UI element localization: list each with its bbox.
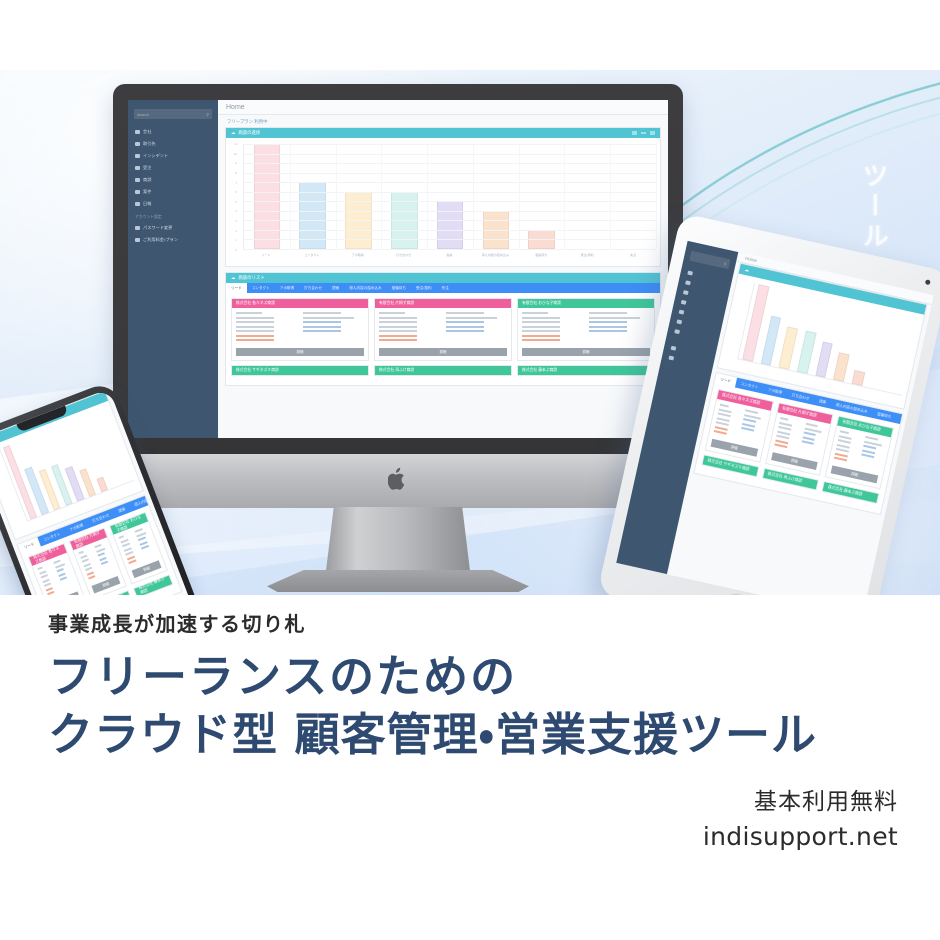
chart-y-tick-label: 1 <box>235 238 237 242</box>
search-icon: ⚲ <box>723 261 727 267</box>
deal-card-detail-button[interactable]: 詳細 <box>236 348 364 356</box>
handshake-icon <box>679 310 685 315</box>
deal-card-field-group <box>522 312 584 344</box>
deal-card-column: 有限会社 おひな子商談詳細株式会社 藤本ぷ商談 <box>821 416 894 508</box>
deal-card-column: 有限会社 おひな子商談詳細株式会社 藤本ぷ商談 <box>517 298 655 380</box>
chart-gridline-vertical <box>473 144 474 249</box>
deal-card-title: 有限会社 おひな子商談 <box>518 299 654 308</box>
chart-x-tick-label: アポ取得 <box>335 250 381 257</box>
deal-card-column: 有限会社 片桐ず商談詳細株式会社 再ふけ商談 <box>374 298 512 380</box>
chart-bar-cell <box>290 144 336 249</box>
deal-card-field <box>236 326 274 328</box>
deal-card-field <box>522 339 560 341</box>
chart-gridline <box>244 173 656 174</box>
deal-card-column: 有限会社 片桐ず商談詳細株式会社 再ふけ商談 <box>761 402 834 494</box>
chart-x-tick-label: 提案 <box>427 250 473 257</box>
imac-bezel: search ⚲ 会社 取引先 <box>113 84 683 454</box>
chart-y-tick-label: 7 <box>235 181 237 185</box>
crm-app-window-tablet: ⚲ Home <box>616 241 933 595</box>
list-panel: ☁ 商談のリスト リードコンタクトアポ取得打ち合わせ提案導入内容の詰め込み稟議待… <box>225 272 661 386</box>
chart-gridline-vertical <box>610 144 611 249</box>
deal-card-field-group <box>236 312 298 344</box>
page-headline: フリーランスのための クラウド型 顧客管理・営業支援ツール <box>48 648 908 763</box>
sidebar-item-incident[interactable]: インシデント <box>128 150 218 162</box>
deal-card-detail-label: 詳細 <box>142 565 150 572</box>
chart-bar-cell <box>473 144 519 249</box>
pipeline-tab[interactable]: コンタクト <box>247 283 275 293</box>
chart-x-axis: リードコンタクトアポ取得打ち合わせ提案導入内容の詰め込み稟議待ち受注・契約失注 <box>243 250 656 257</box>
poster-canvas: ツール search ⚲ 会社 <box>0 0 940 940</box>
deal-card-field <box>379 326 417 328</box>
deal-card-field <box>589 326 627 328</box>
deal-card[interactable]: 株式会社 サギネズミ商談 <box>231 365 369 376</box>
deal-card-grid-tablet: 株式会社 各々ネズ商談詳細株式会社 サギネズミ商談有限会社 片桐ず商談詳細株式会… <box>695 383 900 513</box>
deal-card-field <box>589 321 627 323</box>
deal-card-field <box>236 312 262 314</box>
deal-card-field-group <box>773 417 800 452</box>
deal-card-detail-label: 詳細 <box>791 457 799 463</box>
building-icon <box>135 130 140 134</box>
chart-gridline-vertical <box>564 144 565 249</box>
deal-card-field <box>141 545 149 549</box>
chart-y-tick-label: 8 <box>235 171 237 175</box>
sidebar-item-project[interactable]: 案件 <box>128 186 218 198</box>
deal-card-body <box>232 308 368 348</box>
deal-card-field <box>446 326 484 328</box>
deal-card-field <box>801 440 814 445</box>
deal-card-body <box>518 308 654 348</box>
deal-card-field <box>741 427 754 432</box>
pipeline-tab[interactable]: 打ち合わせ <box>299 283 327 293</box>
chart-bar-cell <box>381 144 427 249</box>
deal-card-detail-label: 詳細 <box>851 471 859 477</box>
cart-icon <box>135 166 140 170</box>
chart-bar-cell <box>336 144 382 249</box>
chart-bar-cell <box>427 144 473 249</box>
search-input[interactable]: search ⚲ <box>134 109 212 119</box>
sidebar-item-deal[interactable]: 商談 <box>128 174 218 186</box>
card-icon <box>668 356 674 361</box>
kicker-text: 事業成長が加速する切り札 <box>48 608 306 637</box>
chart-panel: ☁ 商談の進捗 01234567891011 <box>225 127 661 267</box>
chart-bar <box>437 201 464 249</box>
folder-icon <box>676 319 682 324</box>
chart-y-tick-label: 11 <box>234 142 237 146</box>
deal-card-field <box>88 575 96 579</box>
chart-y-tick-label: 5 <box>235 200 237 204</box>
deal-card-field-group <box>379 312 441 344</box>
deal-card[interactable]: 株式会社 各々ネズ商談詳細 <box>705 389 774 462</box>
chart-y-tick-label: 10 <box>234 152 237 156</box>
chart-bar <box>833 352 850 382</box>
list-panel-header: ☁ 商談のリスト <box>226 273 660 283</box>
deal-card-field <box>236 317 274 319</box>
deal-card-field <box>780 417 789 421</box>
deal-card-title: 株式会社 サギネズミ商談 <box>232 366 368 375</box>
imac-stand-foot <box>267 570 529 592</box>
deal-card-column: 株式会社 各々ネズ商談詳細株式会社 サギネズミ商談 <box>701 389 774 481</box>
deal-card-field <box>379 330 417 332</box>
deal-card[interactable]: 株式会社 各々ネズ商談詳細 <box>231 298 369 361</box>
imac-screen: search ⚲ 会社 取引先 <box>128 100 668 438</box>
background-ghost-text: ツール <box>855 162 892 252</box>
chart-gridline <box>244 220 656 221</box>
lock-icon <box>135 226 140 230</box>
deal-card-detail-button[interactable]: 詳細 <box>522 348 650 356</box>
deal-card-field <box>446 317 498 319</box>
deal-card-field <box>446 312 484 314</box>
deal-card-title: 株式会社 各々ネズ商談 <box>232 299 368 308</box>
chart-y-tick-label: 9 <box>235 161 237 165</box>
chart-bar <box>851 370 865 386</box>
sidebar-item-label: インシデント <box>143 153 168 159</box>
chart-bar-cell <box>610 144 656 249</box>
pipeline-tab[interactable]: アポ取得 <box>275 283 299 293</box>
chart-gridline-vertical <box>381 144 382 249</box>
chart-x-tick-label: コンタクト <box>289 250 335 257</box>
lock-icon <box>671 346 677 351</box>
deal-card[interactable]: 有限会社 片桐ず商談詳細 <box>374 298 512 361</box>
chart-x-tick-label: 受注・契約 <box>564 250 610 257</box>
chart-bar-cell <box>519 144 565 249</box>
chart-x-tick-label: 稟議待ち <box>518 250 564 257</box>
pipeline-tabs[interactable]: リードコンタクトアポ取得打ち合わせ提案導入内容の詰め込み稟議待ち受注・契約失注 <box>226 283 660 293</box>
pipeline-tab[interactable]: 失注 <box>437 283 454 293</box>
sidebar-item-label: 取引先 <box>143 141 156 147</box>
chart-gridline <box>244 239 656 240</box>
crm-app-window: search ⚲ 会社 取引先 <box>128 100 668 438</box>
chart-panel-title: 商談の進捗 <box>238 130 629 136</box>
list-panel-title: 商談のリスト <box>238 275 655 281</box>
deal-card-field <box>119 535 124 539</box>
chart-gridline-vertical <box>519 144 520 249</box>
chart-bar-cell <box>564 144 610 249</box>
chart-y-tick-label: 4 <box>235 209 237 213</box>
deal-card-field <box>47 591 55 595</box>
chart-gridline <box>244 211 656 212</box>
deal-card-detail-label: 詳細 <box>297 349 304 354</box>
deal-card-field <box>522 330 560 332</box>
deal-card-field <box>60 576 68 580</box>
chart-x-tick-label: 導入内容の詰め込み <box>472 250 518 257</box>
footer-info: 基本利用無料 indisupport.net <box>703 782 898 851</box>
headline-line-2: クラウド型 顧客管理・営業支援ツール <box>48 706 908 764</box>
search-icon: ⚲ <box>206 112 209 117</box>
hero-image: ツール search ⚲ 会社 <box>0 70 940 595</box>
chart-gridline-vertical <box>336 144 337 249</box>
deal-card-field <box>589 330 627 332</box>
deal-card-field <box>236 330 274 332</box>
deal-card-field <box>303 330 341 332</box>
deal-card-field <box>522 335 560 337</box>
sidebar-item-label: 会社 <box>143 129 151 135</box>
chart-icon <box>135 202 140 206</box>
search-input-placeholder: search <box>137 112 149 117</box>
deal-card-field <box>129 559 137 563</box>
deal-card-field-group <box>589 312 651 344</box>
deal-card-detail-button[interactable]: 詳細 <box>379 348 507 356</box>
window-controls[interactable] <box>632 131 655 135</box>
chart-bar-cell <box>244 144 290 249</box>
minimize-icon[interactable] <box>641 132 646 134</box>
sidebar-item-label: 日報 <box>143 201 151 207</box>
apple-logo <box>388 467 408 491</box>
chart-y-tick-label: 2 <box>235 229 237 233</box>
app-main-content: Home フリープラン 利用中 ☁ 商談の進捗 <box>218 100 668 438</box>
deal-card-field <box>834 457 847 462</box>
chart-bars <box>244 144 656 249</box>
free-plan-label: 基本利用無料 <box>703 782 898 816</box>
chart-gridline <box>244 154 656 155</box>
app-sidebar: search ⚲ 会社 取引先 <box>128 100 218 438</box>
deal-card-field <box>522 317 560 319</box>
site-url[interactable]: indisupport.net <box>703 822 898 851</box>
sidebar-item-company[interactable]: 会社 <box>128 126 218 138</box>
deal-card-field <box>379 321 417 323</box>
sidebar-item-plan[interactable]: ご利用料金・プラン <box>128 234 218 246</box>
alert-icon <box>135 154 140 158</box>
card-icon <box>135 238 140 242</box>
chart-x-tick-label: リード <box>243 250 289 257</box>
deal-card-field-group <box>799 423 826 458</box>
sidebar-item-label: パスワード変更 <box>143 225 172 231</box>
chart-gridline <box>244 192 656 193</box>
chart-x-tick-label: 失注 <box>610 250 656 257</box>
sidebar-section-label: アカウント設定 <box>128 210 218 222</box>
deal-card-field <box>78 551 83 555</box>
chart-gridline <box>244 144 656 145</box>
deal-card-grid: 株式会社 各々ネズ商談詳細株式会社 サギネズミ商談有限会社 片桐ず商談詳細株式会… <box>226 293 660 385</box>
chart-gridline <box>244 249 656 250</box>
deal-card-field <box>861 453 874 458</box>
sidebar-item-label: ご利用料金・プラン <box>143 237 178 243</box>
handshake-icon <box>135 178 140 182</box>
bar-chart: 01234567891011 リードコンタクトアポ取得打ち合わせ提案導入内容の詰… <box>226 138 660 266</box>
sidebar-item-label: 受注 <box>143 165 151 171</box>
chart-gridline-vertical <box>656 144 657 249</box>
deal-card[interactable]: 株式会社 藤本ぷ商談 <box>517 365 655 376</box>
chart-panel-header: ☁ 商談の進捗 <box>226 128 660 138</box>
home-button-icon[interactable] <box>723 592 749 595</box>
chart-gridline <box>244 163 656 164</box>
deal-card-field <box>446 321 484 323</box>
chart-y-axis: 01234567891011 <box>226 144 238 250</box>
close-icon[interactable] <box>650 131 655 135</box>
cloud-icon: ☁ <box>744 267 750 274</box>
deal-card-field <box>100 561 108 565</box>
deal-card-field <box>303 321 341 323</box>
deal-card[interactable]: 有限会社 おひな子商談詳細 <box>825 416 894 489</box>
pipeline-tab[interactable]: リード <box>226 283 247 293</box>
deal-card-column: 株式会社 各々ネズ商談詳細株式会社 サギネズミ商談 <box>231 298 369 380</box>
deal-card[interactable]: 有限会社 おひな子商談詳細 <box>517 298 655 361</box>
deal-card-field <box>522 312 548 314</box>
chart-plot-area <box>243 144 656 250</box>
user-icon <box>135 142 140 146</box>
deal-card-field <box>379 339 417 341</box>
deal-card-field <box>840 430 849 434</box>
deal-card-field <box>379 335 417 337</box>
deal-card-field <box>37 566 42 570</box>
pipeline-tab[interactable]: 提案 <box>327 283 344 293</box>
sidebar-item-label: 案件 <box>143 189 151 195</box>
sidebar-item-order[interactable]: 受注 <box>128 162 218 174</box>
chart-y-tick-label: 6 <box>235 190 237 194</box>
deal-card-field-group <box>713 404 740 439</box>
camera-icon <box>925 279 931 285</box>
deal-card-field <box>446 330 484 332</box>
chart-gridline <box>244 230 656 231</box>
chart-x-tick-label: 打ち合わせ <box>381 250 427 257</box>
deal-card-field-group <box>446 312 508 344</box>
deal-card[interactable]: 有限会社 片桐ず商談詳細 <box>765 402 834 475</box>
deal-card-field <box>236 339 274 341</box>
deal-card-field-group <box>834 430 861 465</box>
deal-card-detail-label: 詳細 <box>730 444 738 450</box>
deal-card-field <box>714 430 727 435</box>
chart-gridline-vertical <box>290 144 291 249</box>
deal-card-field <box>589 312 627 314</box>
deal-card-field <box>303 326 341 328</box>
search-input-tablet[interactable]: ⚲ <box>689 251 730 269</box>
sidebar-item-client[interactable]: 取引先 <box>128 138 218 150</box>
chart-icon <box>674 329 680 334</box>
chart-y-tick-label: 3 <box>235 219 237 223</box>
cloud-icon: ☁ <box>231 275 235 281</box>
sidebar-item-report[interactable]: 日報 <box>128 198 218 210</box>
alert-icon <box>683 290 689 295</box>
deal-card[interactable]: 株式会社 再ふけ商談 <box>374 365 512 376</box>
folder-icon <box>135 190 140 194</box>
deal-card-field <box>303 317 355 319</box>
sidebar-item-password[interactable]: パスワード変更 <box>128 222 218 234</box>
deal-card-field <box>522 321 560 323</box>
building-icon <box>687 271 693 276</box>
deal-card-field <box>379 312 405 314</box>
deal-card-field <box>774 443 787 448</box>
headline-line-1: フリーランスのための <box>48 648 908 706</box>
deal-card-field <box>720 404 729 408</box>
cloud-icon: ☁ <box>231 130 235 136</box>
imac-stand-neck <box>325 507 471 579</box>
app-topbar: Home <box>218 100 668 115</box>
deal-card-title: 株式会社 再ふけ商談 <box>375 366 511 375</box>
chart-gridline-vertical <box>427 144 428 249</box>
pipeline-tab[interactable]: 受注・契約 <box>411 283 437 293</box>
desktop-device-imac: search ⚲ 会社 取引先 <box>113 84 683 524</box>
deal-card-detail-label: 詳細 <box>440 349 447 354</box>
page-title: Home <box>226 104 245 111</box>
deal-card-title: 株式会社 藤本ぷ商談 <box>518 366 654 375</box>
page-title-tablet: Home <box>745 256 758 263</box>
deal-card-detail-label: 詳細 <box>583 349 590 354</box>
deal-card-field-group <box>303 312 365 344</box>
deal-card-title: 有限会社 片桐ず商談 <box>375 299 511 308</box>
deal-card-field <box>522 326 560 328</box>
deal-card-field-group <box>859 436 886 471</box>
cart-icon <box>681 300 687 305</box>
deal-card-field <box>589 317 641 319</box>
deal-card-field <box>379 317 417 319</box>
sidebar-item-label: 商談 <box>143 177 151 183</box>
pipeline-tab[interactable]: 稟議待ち <box>387 283 411 293</box>
ipad-screen: ⚲ Home <box>616 241 933 595</box>
chart-bar <box>254 144 281 249</box>
restore-icon[interactable] <box>632 131 637 135</box>
chart-gridline <box>244 201 656 202</box>
chart-gridline <box>244 182 656 183</box>
deal-card-detail-label: 詳細 <box>102 581 110 588</box>
deal-card-body <box>375 308 511 348</box>
pipeline-tab[interactable]: 導入内容の詰め込み <box>344 283 386 293</box>
deal-card-field <box>236 335 274 337</box>
deal-card-field <box>236 321 274 323</box>
user-icon <box>685 280 691 285</box>
deal-card-field <box>303 312 341 314</box>
deal-card-field-group <box>738 409 765 444</box>
chart-y-tick-label: 0 <box>235 248 237 252</box>
plan-status-note: フリープラン 利用中 <box>218 115 668 127</box>
